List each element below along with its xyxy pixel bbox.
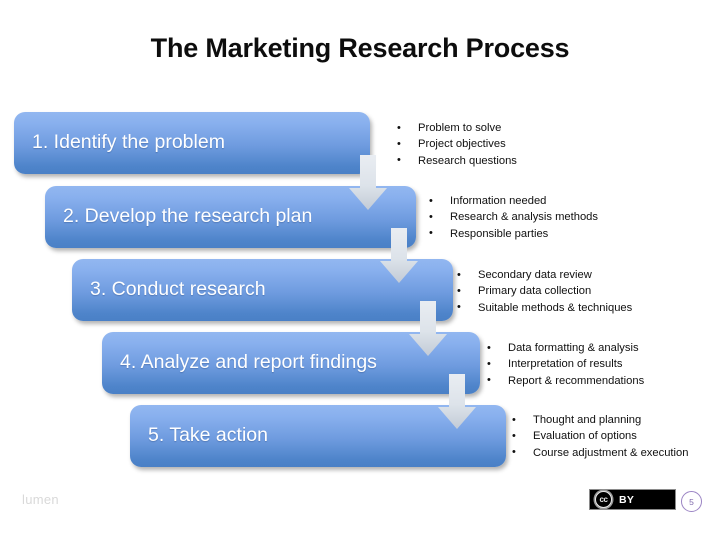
step-box-3[interactable]: 3. Conduct research [72, 259, 453, 321]
step-label-5: 5. Take action [130, 426, 268, 446]
step-bullet-list-2: Information neededResearch & analysis me… [428, 193, 598, 242]
bullet-item: Thought and planning [511, 412, 688, 428]
step-label-1: 1. Identify the problem [14, 133, 225, 153]
step-box-2[interactable]: 2. Develop the research plan [45, 186, 416, 248]
step-bullet-list-4: Data formatting & analysisInterpretation… [486, 340, 644, 389]
bullet-item: Course adjustment & execution [511, 445, 688, 461]
creative-commons-badge: cc BY [589, 489, 676, 510]
step-box-4[interactable]: 4. Analyze and report findings [102, 332, 480, 394]
step-label-3: 3. Conduct research [72, 280, 266, 300]
step-bullet-list-5: Thought and planningEvaluation of option… [511, 412, 688, 461]
bullet-item: Responsible parties [428, 226, 598, 242]
bullet-item: Primary data collection [456, 283, 632, 299]
bullet-item: Data formatting & analysis [486, 340, 644, 356]
step-label-4: 4. Analyze and report findings [102, 353, 377, 373]
cc-icon: cc [595, 491, 612, 508]
bullet-item: Project objectives [396, 136, 517, 152]
bullet-item: Evaluation of options [511, 428, 688, 444]
bullet-item: Information needed [428, 193, 598, 209]
bullet-item: Interpretation of results [486, 356, 644, 372]
bullet-item: Research questions [396, 153, 517, 169]
step-label-2: 2. Develop the research plan [45, 207, 312, 227]
slide-canvas: The Marketing Research Process 1. Identi… [0, 0, 720, 540]
bullet-item: Problem to solve [396, 120, 517, 136]
lumen-logo: lumen [22, 492, 59, 507]
page-number-badge: 5 [681, 491, 702, 512]
bullet-item: Secondary data review [456, 267, 632, 283]
step-bullet-list-3: Secondary data reviewPrimary data collec… [456, 267, 632, 316]
bullet-item: Report & recommendations [486, 373, 644, 389]
step-bullet-list-1: Problem to solveProject objectivesResear… [396, 120, 517, 169]
bullet-item: Research & analysis methods [428, 209, 598, 225]
cc-license-label: BY [619, 494, 634, 506]
process-flow-diagram: 1. Identify the problemProblem to solveP… [0, 0, 720, 540]
step-box-1[interactable]: 1. Identify the problem [14, 112, 370, 174]
step-box-5[interactable]: 5. Take action [130, 405, 506, 467]
bullet-item: Suitable methods & techniques [456, 300, 632, 316]
